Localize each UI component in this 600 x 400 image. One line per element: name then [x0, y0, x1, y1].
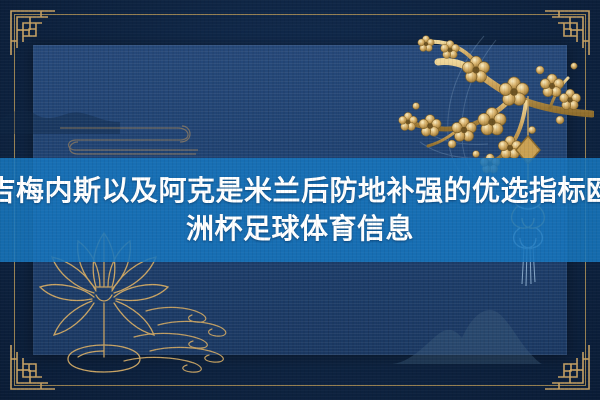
corner-fret-top-right-icon	[544, 10, 590, 56]
corner-fret-top-left-icon	[10, 10, 56, 56]
poster-canvas: 吉梅内斯以及阿克是米兰后防地补强的优选指标欧 洲杯足球体育信息	[0, 0, 600, 400]
corner-fret-bottom-right-icon	[544, 344, 590, 390]
corner-fret-bottom-left-icon	[10, 344, 56, 390]
title-line-1: 吉梅内斯以及阿克是米兰后防地补强的优选指标欧	[0, 173, 600, 209]
title-banner: 吉梅内斯以及阿克是米兰后防地补强的优选指标欧 洲杯足球体育信息	[0, 158, 600, 262]
title-line-2: 洲杯足球体育信息	[186, 211, 414, 247]
